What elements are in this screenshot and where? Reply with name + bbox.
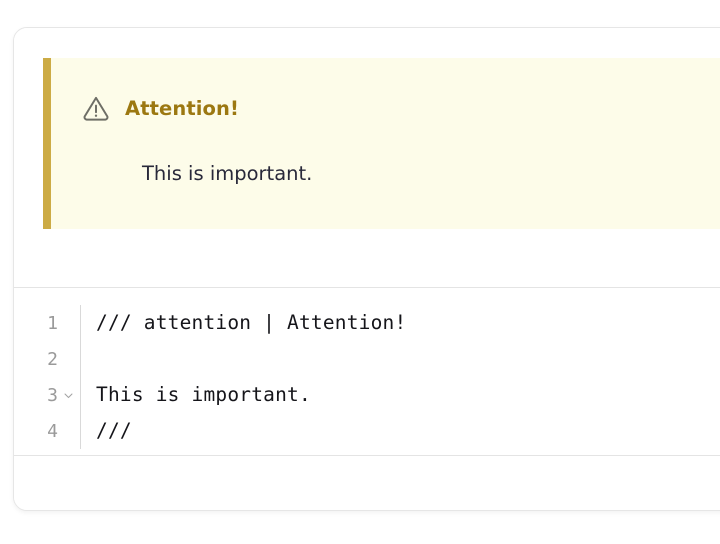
line-number: 3: [47, 385, 58, 406]
admonition-title: Attention!: [125, 97, 239, 120]
gutter-line: 2: [14, 341, 80, 377]
fold-spacer: [31, 354, 42, 365]
fold-spacer: [31, 318, 42, 329]
markdown-preview-pane: Attention! This is important.: [14, 28, 720, 288]
code-line[interactable]: [96, 341, 720, 377]
code-area[interactable]: 1 2 3: [14, 305, 720, 449]
line-number-gutter: 1 2 3: [14, 305, 81, 449]
code-content[interactable]: /// attention | Attention! This is impor…: [81, 305, 720, 449]
code-line[interactable]: /// attention | Attention!: [96, 305, 720, 341]
gutter-line: 4: [14, 413, 80, 449]
gutter-line: 1: [14, 305, 80, 341]
admonition-attention: Attention! This is important.: [43, 58, 720, 229]
fold-spacer: [63, 354, 74, 365]
line-number: 4: [47, 421, 58, 442]
code-editor-surface[interactable]: 1 2 3: [14, 289, 720, 456]
editor-card: Attention! This is important. 1 2: [13, 27, 720, 511]
gutter-line: 3: [14, 377, 80, 413]
code-editor-pane[interactable]: 1 2 3: [14, 289, 720, 510]
code-line[interactable]: ///: [96, 413, 720, 449]
fold-spacer: [63, 318, 74, 329]
chevron-down-icon[interactable]: [63, 385, 74, 406]
code-line[interactable]: This is important.: [96, 377, 720, 413]
admonition-title-row: Attention!: [81, 93, 239, 123]
fold-spacer: [31, 390, 42, 401]
fold-spacer: [31, 426, 42, 437]
warning-triangle-icon: [81, 93, 111, 123]
line-number: 2: [47, 349, 58, 370]
admonition-body-text: This is important.: [142, 162, 312, 185]
line-number: 1: [47, 313, 58, 334]
fold-spacer: [63, 426, 74, 437]
